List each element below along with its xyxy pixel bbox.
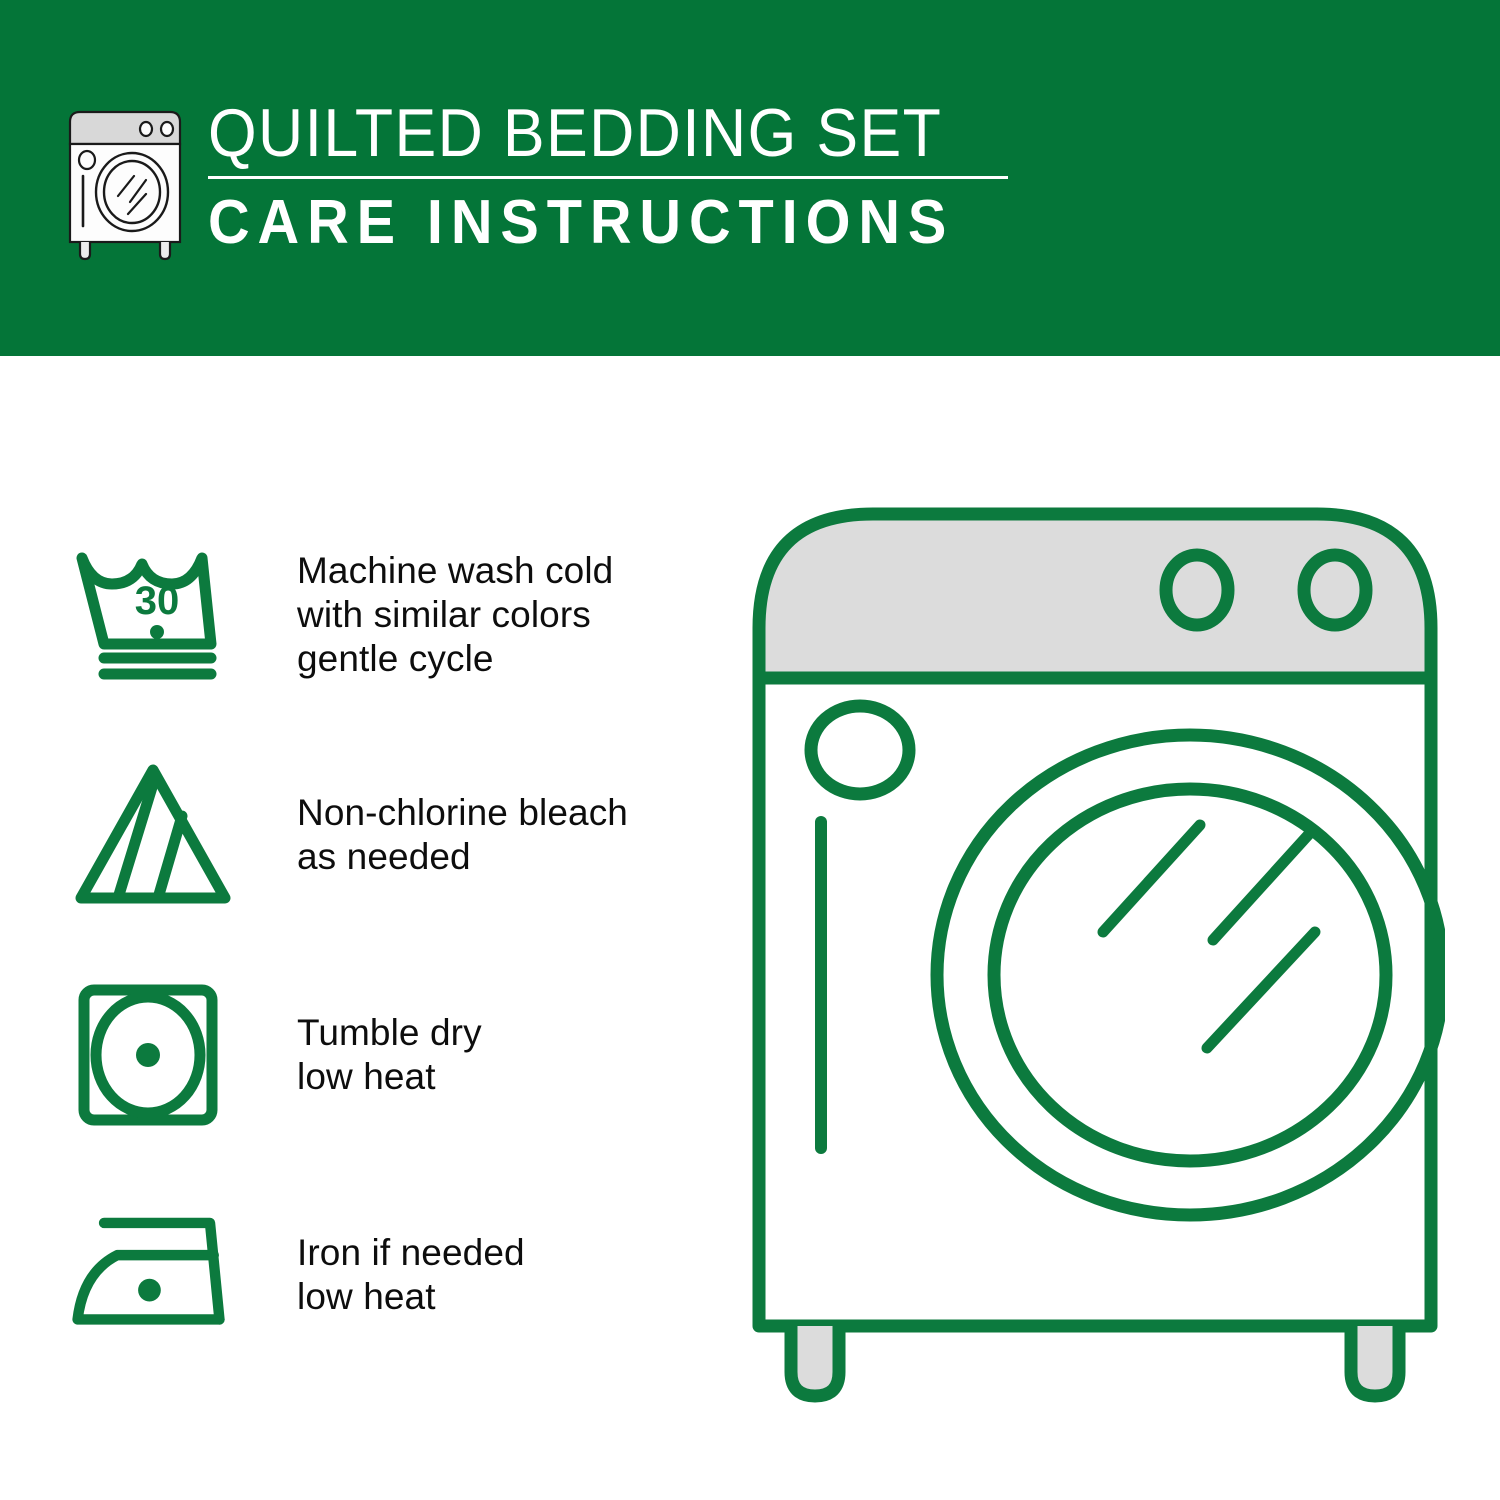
header-banner: QUILTED BEDDING SET CARE INSTRUCTIONS [0, 0, 1500, 356]
header-content: QUILTED BEDDING SET CARE INSTRUCTIONS [60, 96, 1010, 269]
washer-knob-right [1304, 555, 1366, 625]
header-text-group: QUILTED BEDDING SET CARE INSTRUCTIONS [208, 96, 1010, 257]
care-instructions-list: 30 Machine wash cold with similar colors… [70, 505, 710, 1385]
tumble-dry-low-icon [70, 980, 245, 1130]
title-divider [208, 176, 1008, 179]
front-load-washing-machine-illustration [745, 500, 1445, 1420]
care-item-bleach: Non-chlorine bleach as needed [70, 725, 710, 945]
washer-knob-left [1166, 555, 1228, 625]
care-item-label: Iron if needed low heat [297, 1231, 525, 1319]
care-item-label: Tumble dry low heat [297, 1011, 482, 1099]
washer-foot-left [791, 1326, 839, 1396]
page-subtitle: CARE INSTRUCTIONS [208, 189, 954, 257]
wash-tub-30-icon: 30 [70, 540, 245, 690]
care-item-tumble-dry: Tumble dry low heat [70, 945, 710, 1165]
page-title: QUILTED BEDDING SET [208, 96, 946, 170]
washing-machine-icon [60, 104, 190, 269]
care-item-iron: Iron if needed low heat [70, 1165, 710, 1385]
washer-foot-right [1351, 1326, 1399, 1396]
iron-low-heat-icon [70, 1200, 245, 1350]
wash-temperature-value: 30 [135, 579, 180, 623]
care-item-label: Machine wash cold with similar colors ge… [297, 549, 613, 681]
care-item-label: Non-chlorine bleach as needed [297, 791, 628, 879]
non-chlorine-bleach-triangle-icon [70, 760, 245, 910]
care-item-machine-wash: 30 Machine wash cold with similar colors… [70, 505, 710, 725]
